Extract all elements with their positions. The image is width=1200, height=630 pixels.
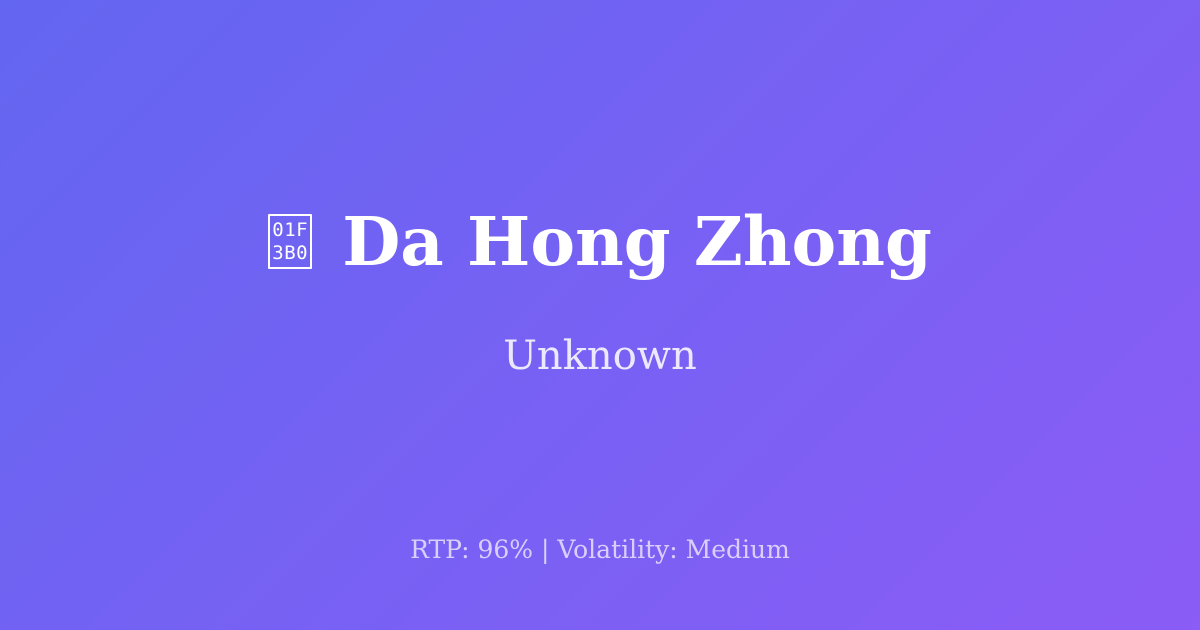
game-meta-line: RTP: 96% | Volatility: Medium <box>0 536 1200 564</box>
tofu-codepoint-bottom: 3B0 <box>272 242 308 265</box>
page-title: Da Hong Zhong <box>342 206 932 278</box>
page-subtitle: Unknown <box>503 334 697 378</box>
tofu-codepoint-top: 01F <box>272 219 308 242</box>
slot-machine-icon: 01F 3B0 <box>268 214 312 269</box>
title-row: 01F 3B0 Da Hong Zhong <box>0 206 1200 278</box>
og-card: 01F 3B0 Da Hong Zhong Unknown RTP: 96% |… <box>0 0 1200 630</box>
